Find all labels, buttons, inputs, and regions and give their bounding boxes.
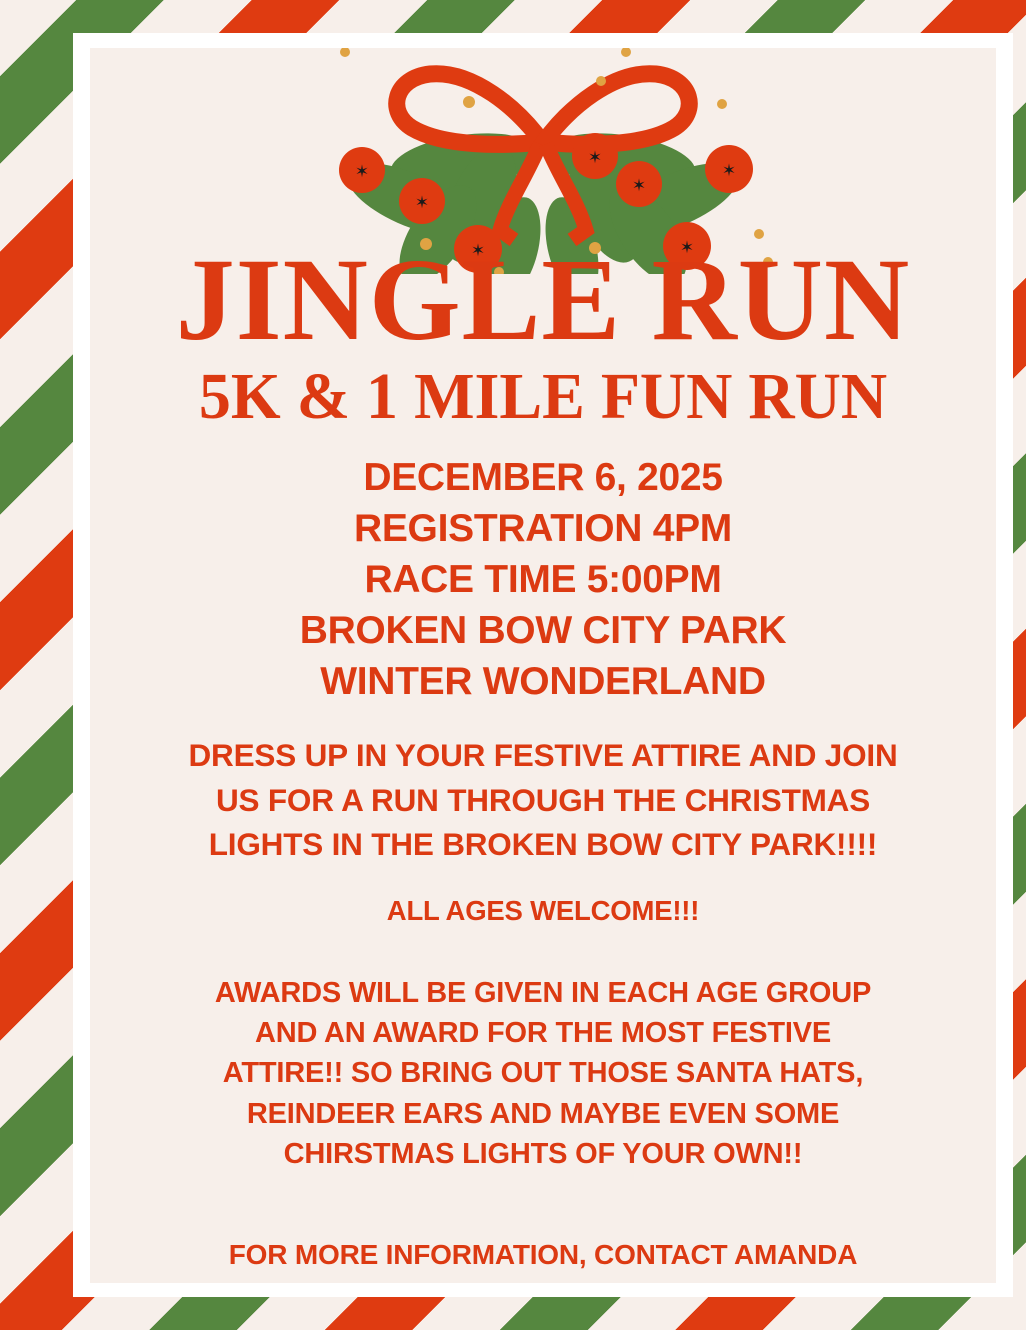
- detail-line: BROKEN BOW CITY PARK: [90, 605, 996, 656]
- flyer-content: JINGLE RUN 5K & 1 MILE FUN RUN DECEMBER …: [90, 48, 996, 1283]
- awards-line: REINDEER EARS AND MAYBE EVEN SOME: [90, 1094, 996, 1134]
- flyer-poster: ✶ ✶ ✶ ✶: [0, 0, 1026, 1330]
- awards-line: AND AN AWARD FOR THE MOST FESTIVE: [90, 1013, 996, 1053]
- description-line: US FOR A RUN THROUGH THE CHRISTMAS: [90, 778, 996, 822]
- awards-line: CHIRSTMAS LIGHTS OF YOUR OWN!!: [90, 1134, 996, 1174]
- flyer-inner-panel: ✶ ✶ ✶ ✶: [90, 48, 996, 1283]
- page-title: JINGLE RUN: [90, 48, 996, 356]
- description-line: LIGHTS IN THE BROKEN BOW CITY PARK!!!!: [90, 822, 996, 866]
- description-block: DRESS UP IN YOUR FESTIVE ATTIRE AND JOIN…: [90, 707, 996, 865]
- white-frame-border: ✶ ✶ ✶ ✶: [73, 33, 1013, 1297]
- all-ages-line: ALL AGES WELCOME!!!: [90, 892, 996, 929]
- detail-line: DECEMBER 6, 2025: [90, 452, 996, 503]
- awards-block: AWARDS WILL BE GIVEN IN EACH AGE GROUP A…: [90, 929, 996, 1174]
- all-ages-block: ALL AGES WELCOME!!!: [90, 866, 996, 929]
- event-details-block: DECEMBER 6, 2025 REGISTRATION 4PM RACE T…: [90, 430, 996, 707]
- awards-line: AWARDS WILL BE GIVEN IN EACH AGE GROUP: [90, 973, 996, 1013]
- detail-line: WINTER WONDERLAND: [90, 656, 996, 707]
- contact-line: WILLIAMSON AT: [90, 1275, 996, 1283]
- detail-line: REGISTRATION 4PM: [90, 503, 996, 554]
- contact-block: FOR MORE INFORMATION, CONTACT AMANDA WIL…: [90, 1174, 996, 1283]
- awards-line: ATTIRE!! SO BRING OUT THOSE SANTA HATS,: [90, 1053, 996, 1093]
- description-line: DRESS UP IN YOUR FESTIVE ATTIRE AND JOIN: [90, 733, 996, 777]
- detail-line: RACE TIME 5:00PM: [90, 554, 996, 605]
- page-subtitle: 5K & 1 MILE FUN RUN: [104, 356, 983, 430]
- contact-line: FOR MORE INFORMATION, CONTACT AMANDA: [90, 1236, 996, 1275]
